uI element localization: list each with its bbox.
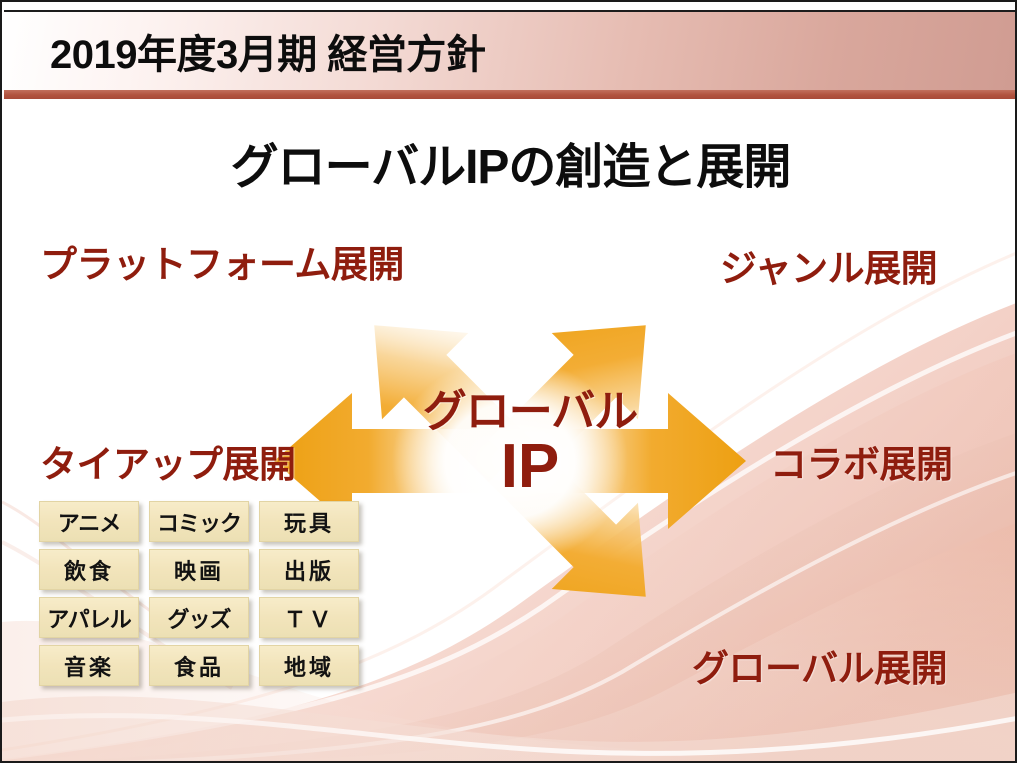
genre-tag-grid: アニメ コミック 玩具 飲食 映画 出版 アパレル グッズ ＴＶ 音楽 食品 地… <box>39 501 359 686</box>
tag-item: グッズ <box>149 597 249 638</box>
tag-item: コミック <box>149 501 249 542</box>
tag-item: 出版 <box>259 549 359 590</box>
tag-item: 玩具 <box>259 501 359 542</box>
spoke-label-tieup: タイアップ展開 <box>40 434 296 488</box>
tag-item: 食品 <box>149 645 249 686</box>
tag-item: 飲食 <box>39 549 139 590</box>
spoke-label-collab: コラボ展開 <box>770 434 953 488</box>
spoke-label-global: グローバル展開 <box>692 638 947 692</box>
spoke-label-platform: プラットフォーム展開 <box>40 234 404 288</box>
tag-item: 音楽 <box>39 645 139 686</box>
center-label-line2: IP <box>390 436 670 498</box>
tag-item: アニメ <box>39 501 139 542</box>
header-underline-rule <box>4 90 1015 99</box>
slide-canvas: 2019年度3月期 経営方針 グローバルIPの創造と展開 <box>0 0 1017 763</box>
center-hub-label: グローバル IP <box>390 390 670 498</box>
page-title: グローバルIPの創造と展開 <box>2 127 1017 197</box>
tag-item: 地域 <box>259 645 359 686</box>
center-label-line1: グローバル <box>390 390 670 434</box>
tag-item: ＴＶ <box>259 597 359 638</box>
spoke-label-genre: ジャンル展開 <box>720 238 937 292</box>
tag-item: アパレル <box>39 597 139 638</box>
header-title: 2019年度3月期 経営方針 <box>50 22 485 80</box>
tag-item: 映画 <box>149 549 249 590</box>
